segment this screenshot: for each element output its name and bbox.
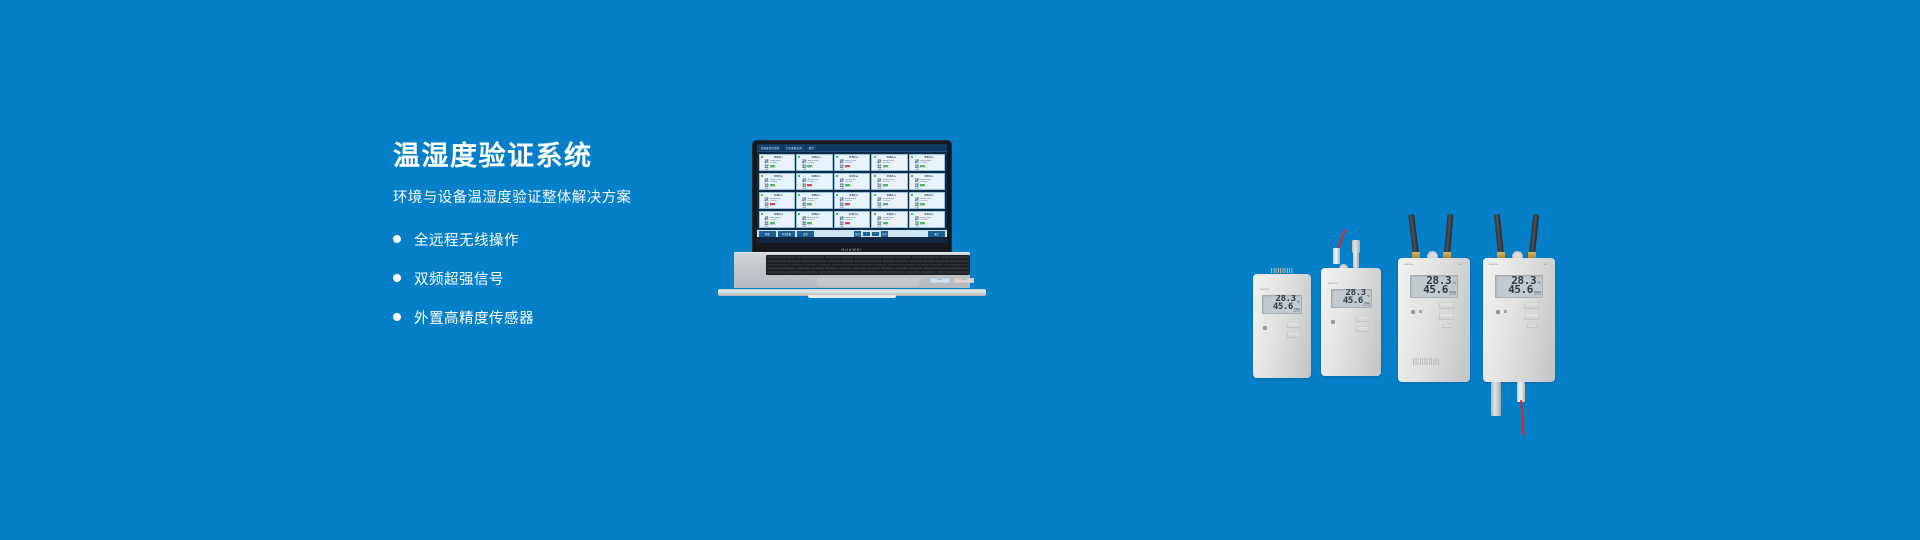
laptop-illustration: 温湿度监控系统 历史数据查询 报警 监测点01设备:温湿度记录仪编号:TH-00… bbox=[718, 140, 986, 300]
device-button-down[interactable] bbox=[1439, 313, 1454, 320]
refresh-button[interactable]: 刷新 bbox=[759, 231, 776, 237]
device-body: ENGVN 28.3 ℃ 45.6 %RH MAX MIN bbox=[1321, 268, 1381, 376]
keyboard-key[interactable] bbox=[818, 264, 831, 267]
field-value: 48.2 %RH bbox=[807, 170, 816, 171]
monitor-card[interactable]: 监测点06设备:温湿度记录仪编号:TH-0006状态:正常温度:25.4 ℃湿度… bbox=[759, 173, 795, 191]
exit-button[interactable]: 退出 bbox=[928, 231, 945, 237]
hum-row: 湿度:45.2 %RH bbox=[915, 189, 943, 190]
status-dot-icon bbox=[874, 194, 876, 196]
monitor-card-title: 监测点10 bbox=[915, 175, 943, 178]
hum-row: 湿度:46.1 %RH bbox=[802, 208, 830, 209]
monitor-card[interactable]: 监测点03设备:温湿度记录仪编号:TH-0003状态:报警温度:31.7 ℃湿度… bbox=[834, 154, 870, 172]
hum-row: 湿度:43.7 %RH bbox=[840, 189, 868, 190]
status-dot-icon bbox=[874, 175, 876, 177]
monitor-card[interactable]: 监测点20设备:温湿度记录仪编号:TH-0020状态:正常温度:28.5 ℃湿度… bbox=[909, 211, 945, 229]
keyboard-key[interactable] bbox=[868, 260, 881, 263]
status-dot-icon bbox=[761, 156, 763, 158]
monitor-card-grid: 监测点01设备:温湿度记录仪编号:TH-0001状态:正常温度:28.3 ℃湿度… bbox=[757, 152, 947, 230]
monitor-card-title: 监测点16 bbox=[765, 213, 793, 216]
field-key: 湿度: bbox=[915, 227, 919, 228]
keyboard-key[interactable] bbox=[916, 264, 929, 267]
field-value: 43.7 %RH bbox=[845, 189, 854, 190]
hum-row: 湿度:44.8 %RH bbox=[877, 208, 905, 209]
field-key: 湿度: bbox=[877, 170, 881, 171]
field-key: 湿度: bbox=[765, 208, 769, 209]
field-key: 湿度: bbox=[840, 208, 844, 209]
field-key: 湿度: bbox=[840, 170, 844, 171]
field-key: 湿度: bbox=[802, 227, 806, 228]
keyboard-key[interactable] bbox=[796, 256, 810, 259]
monitor-card[interactable]: 监测点14设备:温湿度记录仪编号:TH-0014状态:正常温度:25.9 ℃湿度… bbox=[871, 192, 907, 210]
field-value: 47.2 %RH bbox=[920, 208, 929, 209]
device-brand-label: ENGVN bbox=[1404, 264, 1413, 266]
status-dot-icon bbox=[836, 175, 838, 177]
device-compact-logger-probe: ENGVN 28.3 ℃ 45.6 %RH MAX MIN bbox=[1321, 228, 1381, 378]
monitor-card[interactable]: 监测点10设备:温湿度记录仪编号:TH-0010状态:正常温度:29.1 ℃湿度… bbox=[909, 173, 945, 191]
field-value: 58.9 %RH bbox=[770, 208, 779, 209]
keyboard-row bbox=[767, 264, 969, 267]
probe-cable bbox=[1520, 400, 1525, 436]
laptop-keyboard[interactable] bbox=[766, 255, 970, 275]
keyboard-key[interactable] bbox=[825, 267, 838, 270]
monitor-card-title: 监测点02 bbox=[802, 156, 830, 159]
humidity-value: 45.6 bbox=[1273, 303, 1293, 312]
vent-grill-icon bbox=[1271, 268, 1293, 273]
keyboard-key[interactable] bbox=[909, 260, 922, 263]
keyboard-key[interactable] bbox=[810, 256, 824, 259]
field-value: 44.0 %RH bbox=[883, 170, 892, 171]
monitor-card[interactable]: 监测点01设备:温湿度记录仪编号:TH-0001状态:正常温度:28.3 ℃湿度… bbox=[759, 154, 795, 172]
probe-filter-tip bbox=[1491, 382, 1501, 416]
laptop-lid: 温湿度监控系统 历史数据查询 报警 监测点01设备:温湿度记录仪编号:TH-00… bbox=[752, 140, 952, 256]
feature-label: 全远程无线操作 bbox=[414, 229, 519, 250]
field-key: 湿度: bbox=[915, 170, 919, 171]
keyboard-key[interactable] bbox=[883, 256, 897, 259]
field-key: 湿度: bbox=[840, 189, 844, 190]
laptop-deck: intel CORE i7 bbox=[734, 252, 970, 288]
status-dot-icon bbox=[911, 213, 913, 215]
keyboard-key[interactable] bbox=[787, 260, 800, 263]
device-lcd-display: 28.3 ℃ 45.6 %RH MAX MIN bbox=[1331, 289, 1372, 308]
monitor-card-title: 监测点15 bbox=[915, 194, 943, 197]
keyboard-key[interactable] bbox=[811, 267, 824, 270]
probe-shaft bbox=[1353, 252, 1359, 268]
field-key: 湿度: bbox=[915, 208, 919, 209]
monitor-card[interactable]: 监测点09设备:温湿度记录仪编号:TH-0009状态:正常温度:26.6 ℃湿度… bbox=[871, 173, 907, 191]
status-led-icon bbox=[1331, 320, 1335, 324]
device-button-up[interactable] bbox=[1439, 302, 1454, 309]
field-value: 45.2 %RH bbox=[920, 189, 929, 190]
hum-row: 湿度:53.6 %RH bbox=[840, 208, 868, 209]
field-key: 湿度: bbox=[877, 227, 881, 228]
keyboard-key[interactable] bbox=[797, 267, 810, 270]
monitor-card-title: 监测点03 bbox=[840, 156, 868, 159]
device-body: ENGVN 28.3 ℃ 45.6 %RH MAX MIN bbox=[1253, 274, 1311, 378]
field-key: 湿度: bbox=[877, 208, 881, 209]
antenna-right-icon bbox=[1444, 214, 1453, 254]
status-dot-icon bbox=[761, 175, 763, 177]
status-dot-icon bbox=[798, 194, 800, 196]
monitor-card[interactable]: 监测点13设备:温湿度记录仪编号:TH-0013状态:报警温度:31.0 ℃湿度… bbox=[834, 192, 870, 210]
laptop-front-foot bbox=[808, 295, 896, 298]
device-lcd-display: 28.3 ℃ 45.6 %RH MAX MIN bbox=[1495, 275, 1543, 298]
status-dot-icon bbox=[761, 213, 763, 215]
keyboard-key[interactable] bbox=[767, 260, 786, 263]
status-led-icon bbox=[1496, 310, 1500, 314]
device-body: ENGVN H8 28.3 ℃ 45.6 %RH MAX MIN bbox=[1483, 258, 1555, 382]
keyboard-key[interactable] bbox=[897, 256, 911, 259]
monitor-card-title: 监测点04 bbox=[877, 156, 905, 159]
sticker-label: intel bbox=[930, 278, 950, 283]
monitor-card-title: 监测点11 bbox=[765, 194, 793, 197]
hum-row: 湿度:47.5 %RH bbox=[877, 189, 905, 190]
keyboard-key[interactable] bbox=[860, 264, 873, 267]
keyboard-key[interactable] bbox=[941, 256, 955, 259]
antenna-right-icon bbox=[1529, 214, 1539, 254]
field-value: 53.6 %RH bbox=[845, 208, 854, 209]
list-item: 全远程无线操作 bbox=[393, 229, 733, 250]
field-value: 55.3 %RH bbox=[807, 189, 816, 190]
page-subtitle: 环境与设备温湿度验证整体解决方案 bbox=[393, 186, 733, 207]
keyboard-key[interactable] bbox=[936, 260, 949, 263]
monitor-card-title: 监测点17 bbox=[802, 213, 830, 216]
keyboard-key[interactable] bbox=[855, 260, 868, 263]
field-value: 43.3 %RH bbox=[883, 227, 892, 228]
keyboard-key[interactable] bbox=[767, 256, 781, 259]
device-button-set[interactable] bbox=[1442, 324, 1452, 328]
bullet-dot-icon bbox=[393, 235, 401, 243]
keyboard-key[interactable] bbox=[923, 260, 936, 263]
keyboard-key[interactable] bbox=[781, 256, 795, 259]
temperature-unit: ℃ bbox=[1452, 282, 1456, 286]
keyboard-key[interactable] bbox=[909, 267, 922, 270]
hum-row: 湿度:48.6 %RH bbox=[915, 227, 943, 228]
humidity-value: 45.6 bbox=[1423, 284, 1448, 295]
device-button-down[interactable] bbox=[1356, 326, 1369, 332]
keyboard-key[interactable] bbox=[828, 260, 841, 263]
hum-row: 湿度:43.3 %RH bbox=[877, 227, 905, 228]
field-key: 湿度: bbox=[802, 208, 806, 209]
keyboard-key[interactable] bbox=[874, 264, 887, 267]
keyboard-row bbox=[767, 271, 969, 274]
keyboard-key[interactable] bbox=[801, 260, 814, 263]
hum-row: 湿度:55.3 %RH bbox=[802, 189, 830, 190]
monitor-card-title: 监测点01 bbox=[765, 156, 793, 159]
laptop-base: intel CORE i7 bbox=[718, 252, 986, 300]
hum-row: 湿度:44.0 %RH bbox=[877, 170, 905, 171]
field-value: 45.9 %RH bbox=[770, 227, 779, 228]
humidity-value: 45.6 bbox=[1343, 297, 1363, 306]
status-dot-icon bbox=[798, 156, 800, 158]
keyboard-key[interactable] bbox=[854, 256, 868, 259]
field-key: 湿度: bbox=[765, 189, 769, 190]
laptop-screen: 温湿度监控系统 历史数据查询 报警 监测点01设备:温湿度记录仪编号:TH-00… bbox=[757, 144, 947, 243]
device-lcd-display: 28.3 ℃ 45.6 %RH MAX MIN bbox=[1262, 295, 1302, 314]
field-key: 湿度: bbox=[765, 170, 769, 171]
keyboard-key[interactable] bbox=[937, 271, 952, 274]
pagination-page-1[interactable]: 1 bbox=[863, 232, 870, 236]
monitor-card[interactable]: 监测点02设备:温湿度记录仪编号:TH-0002状态:正常温度:26.1 ℃湿度… bbox=[796, 154, 832, 172]
hum-row: 湿度:45.9 %RH bbox=[765, 227, 793, 228]
device-brand-label: ENGVN bbox=[1328, 283, 1337, 285]
status-dot-icon bbox=[874, 156, 876, 158]
pagination-first[interactable]: 首页 bbox=[854, 231, 861, 237]
monitor-card[interactable]: 监测点08设备:温湿度记录仪编号:TH-0008状态:正常温度:28.8 ℃湿度… bbox=[834, 173, 870, 191]
keyboard-key[interactable] bbox=[937, 267, 969, 270]
feature-list: 全远程无线操作 双频超强信号 外置高精度传感器 bbox=[393, 229, 733, 328]
page-title: 温湿度验证系统 bbox=[393, 142, 733, 172]
field-key: 湿度: bbox=[765, 227, 769, 228]
keyboard-key[interactable] bbox=[767, 264, 789, 267]
dashboard-button-bar: 刷新 导出数据 设置 首页 1 2 末页 退出 bbox=[757, 230, 947, 237]
monitor-card[interactable]: 监测点05设备:温湿度记录仪编号:TH-0005状态:正常温度:27.3 ℃湿度… bbox=[909, 154, 945, 172]
device-brand-label: ENGVN bbox=[1489, 264, 1498, 266]
device-button-set[interactable] bbox=[1527, 324, 1537, 328]
keyboard-key[interactable] bbox=[923, 267, 936, 270]
keyboard-key[interactable] bbox=[905, 271, 920, 274]
keyboard-key[interactable] bbox=[790, 264, 803, 267]
monitor-card[interactable]: 监测点19设备:温湿度记录仪编号:TH-0019状态:正常温度:27.0 ℃湿度… bbox=[871, 211, 907, 229]
sticker-core-i7: CORE i7 bbox=[954, 278, 974, 283]
monitor-card[interactable]: 监测点18设备:温湿度记录仪编号:TH-0018状态:报警温度:33.1 ℃湿度… bbox=[834, 211, 870, 229]
monitor-card-title: 监测点08 bbox=[840, 175, 868, 178]
monitor-card[interactable]: 监测点12设备:温湿度记录仪编号:TH-0012状态:正常温度:27.8 ℃湿度… bbox=[796, 192, 832, 210]
status-dot-icon bbox=[836, 213, 838, 215]
export-button[interactable]: 导出数据 bbox=[778, 231, 795, 237]
laptop-trackpad[interactable] bbox=[816, 277, 920, 287]
monitor-card-title: 监测点19 bbox=[877, 213, 905, 216]
keyboard-key[interactable] bbox=[930, 264, 943, 267]
monitor-card[interactable]: 监测点15设备:温湿度记录仪编号:TH-0015状态:正常温度:28.0 ℃湿度… bbox=[909, 192, 945, 210]
monitor-card-title: 监测点14 bbox=[877, 194, 905, 197]
hum-row: 湿度:48.2 %RH bbox=[802, 170, 830, 171]
feature-label: 外置高精度传感器 bbox=[414, 307, 534, 328]
hum-row: 湿度:50.4 %RH bbox=[802, 227, 830, 228]
device-lcd-display: 28.3 ℃ 45.6 %RH MAX MIN bbox=[1410, 275, 1458, 298]
keyboard-key[interactable] bbox=[902, 264, 915, 267]
list-item: 外置高精度传感器 bbox=[393, 307, 733, 328]
device-brand-label: ENGVN bbox=[1260, 289, 1269, 291]
toolbar-item-monitor[interactable]: 温湿度监控系统 bbox=[759, 145, 781, 150]
monitor-card-title: 监测点09 bbox=[877, 175, 905, 178]
monitor-card-title: 监测点05 bbox=[915, 156, 943, 159]
device-button-down[interactable] bbox=[1287, 332, 1300, 338]
device-button-up[interactable] bbox=[1287, 322, 1300, 328]
keyboard-key[interactable] bbox=[882, 260, 895, 263]
keyboard-key[interactable] bbox=[950, 260, 969, 263]
monitor-card[interactable]: 监测点07设备:温湿度记录仪编号:TH-0007状态:报警温度:30.2 ℃湿度… bbox=[796, 173, 832, 191]
monitor-card-title: 监测点13 bbox=[840, 194, 868, 197]
power-led-icon bbox=[1419, 310, 1422, 313]
keyboard-key[interactable] bbox=[912, 256, 926, 259]
keyboard-key[interactable] bbox=[881, 267, 894, 270]
monitor-card-title: 监测点18 bbox=[840, 213, 868, 216]
keyboard-key[interactable] bbox=[888, 264, 901, 267]
keyboard-key[interactable] bbox=[846, 264, 859, 267]
field-value: 52.4 %RH bbox=[845, 170, 854, 171]
hum-row: 湿度:46.8 %RH bbox=[915, 170, 943, 171]
monitor-card[interactable]: 监测点17设备:温湿度记录仪编号:TH-0017状态:正常温度:29.7 ℃湿度… bbox=[796, 211, 832, 229]
field-key: 湿度: bbox=[840, 227, 844, 228]
status-dot-icon bbox=[798, 175, 800, 177]
keyboard-key[interactable] bbox=[955, 256, 969, 259]
brand-label: HUAWEI bbox=[842, 248, 863, 252]
keyboard-key[interactable] bbox=[867, 267, 880, 270]
keyboard-key[interactable] bbox=[944, 264, 969, 267]
field-value: 49.1 %RH bbox=[770, 189, 779, 190]
keyboard-row bbox=[767, 260, 969, 263]
feature-label: 双频超强信号 bbox=[414, 268, 504, 289]
temperature-unit: ℃ bbox=[1537, 282, 1541, 286]
keyboard-key[interactable] bbox=[868, 256, 882, 259]
device-wireless-logger: ENGVN H8 28.3 ℃ 45.6 %RH MAX MIN bbox=[1398, 214, 1470, 382]
device-body: ENGVN H8 28.3 ℃ 45.6 %RH MAX MIN bbox=[1398, 258, 1470, 382]
device-button-up[interactable] bbox=[1524, 302, 1539, 309]
monitor-card-title: 监测点07 bbox=[802, 175, 830, 178]
field-key: 湿度: bbox=[877, 189, 881, 190]
hum-row: 湿度:56.7 %RH bbox=[840, 227, 868, 228]
field-value: 47.5 %RH bbox=[883, 189, 892, 190]
field-key: 湿度: bbox=[802, 170, 806, 171]
hum-row: 湿度:45.6 %RH bbox=[765, 170, 793, 171]
device-model-label: H8 bbox=[1544, 264, 1547, 266]
keyboard-key[interactable] bbox=[841, 260, 854, 263]
toolbar-item-alarm[interactable]: 报警 bbox=[807, 145, 816, 150]
hum-row: 湿度:47.2 %RH bbox=[915, 208, 943, 209]
field-value: 46.8 %RH bbox=[920, 170, 929, 171]
keyboard-key[interactable] bbox=[954, 271, 969, 274]
bullet-dot-icon bbox=[393, 313, 401, 321]
device-button-up[interactable] bbox=[1356, 316, 1369, 322]
sticker-label: CORE i7 bbox=[954, 278, 974, 283]
field-value: 48.6 %RH bbox=[920, 227, 929, 228]
device-button-down[interactable] bbox=[1524, 313, 1539, 320]
keyboard-key[interactable] bbox=[804, 264, 817, 267]
device-wireless-logger-probe: ENGVN H8 28.3 ℃ 45.6 %RH MAX MIN bbox=[1483, 214, 1555, 440]
status-dot-icon bbox=[761, 194, 763, 196]
hum-row: 湿度:52.4 %RH bbox=[840, 170, 868, 171]
keyboard-key[interactable] bbox=[814, 260, 827, 263]
keyboard-key[interactable] bbox=[832, 264, 845, 267]
temperature-unit: ℃ bbox=[1367, 295, 1370, 299]
monitor-card-title: 监测点12 bbox=[802, 194, 830, 197]
keyboard-key[interactable] bbox=[921, 271, 936, 274]
settings-button[interactable]: 设置 bbox=[797, 231, 814, 237]
keyboard-key[interactable] bbox=[825, 256, 839, 259]
lcd-footer-label: MAX MIN bbox=[1262, 312, 1302, 313]
device-model-label: H8 bbox=[1459, 264, 1462, 266]
sticker-intel: intel bbox=[930, 278, 950, 283]
status-dot-icon bbox=[911, 175, 913, 177]
monitor-card[interactable]: 监测点11设备:温湿度记录仪编号:TH-0011状态:报警温度:32.5 ℃湿度… bbox=[759, 192, 795, 210]
keyboard-key[interactable] bbox=[839, 267, 852, 270]
pagination-last[interactable]: 末页 bbox=[881, 231, 888, 237]
monitor-card-title: 监测点06 bbox=[765, 175, 793, 178]
hum-row: 湿度:49.1 %RH bbox=[765, 189, 793, 190]
monitor-card[interactable]: 监测点16设备:温湿度记录仪编号:TH-0016状态:正常温度:26.3 ℃湿度… bbox=[759, 211, 795, 229]
status-dot-icon bbox=[798, 213, 800, 215]
keyboard-key[interactable] bbox=[767, 271, 785, 274]
power-led-icon bbox=[1504, 310, 1507, 313]
keyboard-key[interactable] bbox=[803, 271, 818, 274]
keyboard-key[interactable] bbox=[786, 271, 801, 274]
field-value: 50.4 %RH bbox=[807, 227, 816, 228]
dashboard-toolbar: 温湿度监控系统 历史数据查询 报警 bbox=[757, 144, 947, 152]
status-led-icon bbox=[1263, 326, 1267, 330]
pagination-page-2[interactable]: 2 bbox=[872, 232, 879, 236]
toolbar-item-history[interactable]: 历史数据查询 bbox=[784, 145, 804, 150]
humidity-value: 45.6 bbox=[1508, 284, 1533, 295]
hero-banner: 温湿度验证系统 环境与设备温湿度验证整体解决方案 全远程无线操作 双频超强信号 … bbox=[0, 0, 1920, 540]
keyboard-row bbox=[767, 267, 969, 270]
status-dot-icon bbox=[911, 156, 913, 158]
keyboard-key[interactable] bbox=[853, 267, 866, 270]
keyboard-key[interactable] bbox=[819, 271, 904, 274]
keyboard-key[interactable] bbox=[926, 256, 940, 259]
keyboard-row bbox=[767, 256, 969, 259]
field-value: 46.1 %RH bbox=[807, 208, 816, 209]
monitor-card[interactable]: 监测点04设备:温湿度记录仪编号:TH-0004状态:正常温度:24.9 ℃湿度… bbox=[871, 154, 907, 172]
antenna-left-icon bbox=[1408, 214, 1419, 254]
field-value: 45.6 %RH bbox=[770, 170, 779, 171]
status-led-icon bbox=[1411, 310, 1415, 314]
keyboard-key[interactable] bbox=[839, 256, 853, 259]
keyboard-key[interactable] bbox=[767, 267, 796, 270]
antenna-left-icon bbox=[1494, 214, 1504, 254]
temperature-unit: ℃ bbox=[1297, 301, 1300, 305]
field-value: 44.8 %RH bbox=[883, 208, 892, 209]
monitor-card-title: 监测点20 bbox=[915, 213, 943, 216]
status-dot-icon bbox=[911, 194, 913, 196]
field-value: 56.7 %RH bbox=[845, 227, 854, 228]
hero-text-block: 温湿度验证系统 环境与设备温湿度验证整体解决方案 全远程无线操作 双频超强信号 … bbox=[393, 142, 733, 328]
status-dot-icon bbox=[836, 156, 838, 158]
lcd-footer-label: MAX MIN bbox=[1331, 306, 1372, 307]
field-key: 湿度: bbox=[915, 189, 919, 190]
bullet-dot-icon bbox=[393, 274, 401, 282]
keyboard-key[interactable] bbox=[896, 260, 909, 263]
list-item: 双频超强信号 bbox=[393, 268, 733, 289]
status-dot-icon bbox=[836, 194, 838, 196]
status-dot-icon bbox=[874, 213, 876, 215]
hum-row: 湿度:58.9 %RH bbox=[765, 208, 793, 209]
device-compact-logger: ENGVN 28.3 ℃ 45.6 %RH MAX MIN bbox=[1253, 268, 1311, 378]
probe-connector bbox=[1333, 248, 1340, 264]
keyboard-key[interactable] bbox=[895, 267, 908, 270]
field-key: 湿度: bbox=[802, 189, 806, 190]
vent-grill-icon bbox=[1413, 358, 1439, 365]
